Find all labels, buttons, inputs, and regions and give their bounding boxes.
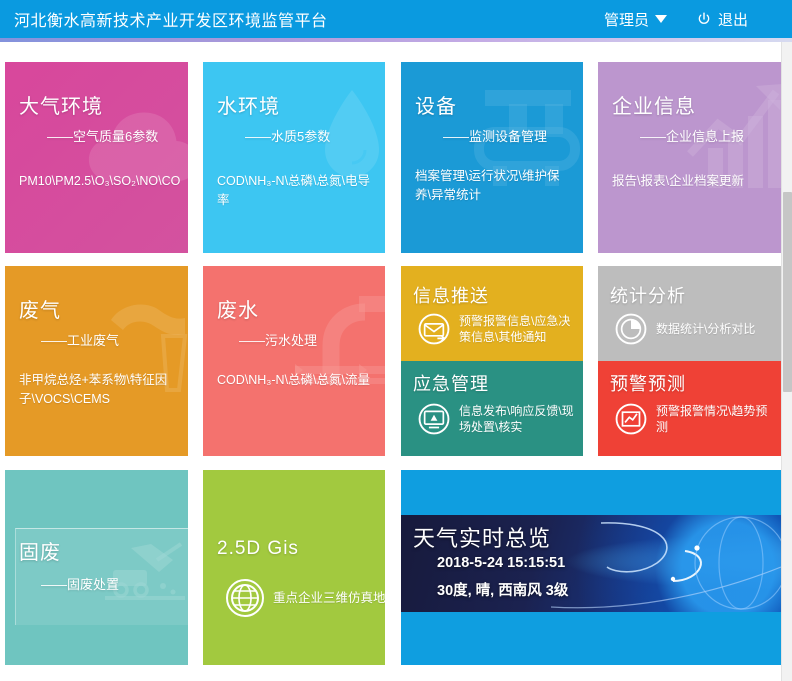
tile-body: PM10\PM2.5\O₃\SO₂\NO\CO (19, 172, 176, 191)
header-actions: 管理员 退出 (604, 9, 748, 30)
emergency-body: 信息发布\响应反馈\现场处置\核实 (459, 403, 581, 435)
tile-gis[interactable]: 2.5D Gis 重点企业三维仿真地图 (203, 470, 385, 665)
gis-row: 重点企业三维仿真地图 (225, 578, 385, 618)
app-header: 河北衡水高新技术产业开发区环境监管平台 管理员 退出 (0, 0, 792, 38)
tile-subtitle: ——企业信息上报 (640, 126, 744, 145)
weather-title: 天气实时总览 (413, 521, 551, 553)
weather-banner: 天气实时总览 2018-5-24 15:15:51 30度, 晴, 西南风 3级 (401, 515, 781, 612)
push-title: 信息推送 (413, 282, 489, 308)
page-scrollbar[interactable] (781, 42, 792, 681)
user-menu[interactable]: 管理员 (604, 9, 667, 30)
tile-title: 设备 (415, 90, 457, 119)
logout-button[interactable]: 退出 (697, 9, 748, 30)
statistics-title: 统计分析 (610, 282, 686, 308)
gis-body: 重点企业三维仿真地图 (273, 590, 385, 606)
tile-enterprise-info[interactable]: 企业信息 ——企业信息上报 报告\报表\企业档案更新 (598, 62, 781, 253)
monitor-alert-icon (417, 402, 451, 436)
tile-device[interactable]: 设备 ——监测设备管理 档案管理\运行状况\维护保养\异常统计 (401, 62, 583, 253)
tile-title: 2.5D Gis (217, 538, 299, 560)
push-body: 预警报警信息\应急决策信息\其他通知 (459, 313, 581, 345)
tile-subtitle: ——监测设备管理 (443, 126, 547, 145)
statistics-body: 数据统计\分析对比 (656, 321, 778, 337)
pie-chart-icon (614, 312, 648, 346)
tile-subtitle: ——固废处置 (41, 574, 119, 593)
tile-info-push-emergency[interactable]: 信息推送 预警报警信息\应急决策信息\其他通知 应急管理 信息发布\响应反馈\现… (401, 266, 583, 456)
chevron-down-icon (655, 15, 667, 23)
tile-body: 非甲烷总烃+苯系物\特征因子\VOCS\CEMS (19, 371, 176, 409)
emergency-row: 信息发布\响应反馈\现场处置\核实 (417, 402, 581, 436)
tile-title: 废气 (19, 294, 61, 323)
tile-body: 档案管理\运行状况\维护保养\异常统计 (415, 167, 571, 205)
user-name-label: 管理员 (604, 9, 649, 30)
tile-body: 报告\报表\企业档案更新 (612, 172, 769, 191)
statistics-row: 数据统计\分析对比 (614, 312, 778, 346)
weather-conditions: 30度, 晴, 西南风 3级 (437, 579, 568, 600)
page-title: 河北衡水高新技术产业开发区环境监管平台 (14, 7, 328, 31)
logout-label: 退出 (718, 9, 748, 30)
tile-body-text: 档案管理\运行状况\维护保养\异常统计 (415, 169, 559, 202)
forecast-row: 预警报警情况\趋势预测 (614, 402, 778, 436)
tile-subtitle: ——污水处理 (239, 330, 317, 349)
scrollbar-thumb[interactable] (783, 192, 792, 392)
tile-air-environment[interactable]: 大气环境 ——空气质量6参数 PM10\PM2.5\O₃\SO₂\NO\CO (5, 62, 188, 253)
envelope-send-icon (417, 312, 451, 346)
dashboard-grid: 大气环境 ——空气质量6参数 PM10\PM2.5\O₃\SO₂\NO\CO 水… (0, 42, 792, 681)
forecast-body: 预警报警情况\趋势预测 (656, 403, 778, 435)
emergency-title: 应急管理 (413, 370, 489, 396)
tile-statistics-forecast[interactable]: 统计分析 数据统计\分析对比 预警预测 预警报警情况\趋势预测 (598, 266, 781, 456)
tile-weather-overview[interactable]: 天气实时总览 2018-5-24 15:15:51 30度, 晴, 西南风 3级 (401, 470, 781, 665)
tile-title: 废水 (217, 294, 259, 323)
tile-body: COD\NH₃-N\总磷\总氮\流量 (217, 371, 373, 390)
trend-chart-icon (614, 402, 648, 436)
tile-waste-water[interactable]: 废水 ——污水处理 COD\NH₃-N\总磷\总氮\流量 (203, 266, 385, 456)
tile-subtitle: ——工业废气 (41, 330, 119, 349)
forecast-title: 预警预测 (610, 370, 686, 396)
tile-body: COD\NH₃-N\总磷\总氮\电导率 (217, 172, 373, 210)
tile-title: 固废 (19, 536, 61, 565)
tile-title: 企业信息 (612, 90, 696, 119)
tile-title: 大气环境 (19, 90, 103, 119)
globe-icon (225, 578, 265, 618)
tile-subtitle: ——水质5参数 (245, 126, 330, 145)
tile-waste-gas[interactable]: 废气 ——工业废气 非甲烷总烃+苯系物\特征因子\VOCS\CEMS (5, 266, 188, 456)
power-icon (697, 12, 711, 26)
tile-title: 水环境 (217, 90, 280, 119)
push-row: 预警报警信息\应急决策信息\其他通知 (417, 312, 581, 346)
weather-datetime: 2018-5-24 15:15:51 (437, 555, 565, 571)
tile-subtitle: ——空气质量6参数 (47, 126, 158, 145)
tile-solid-waste[interactable]: 固废 ——固废处置 (5, 470, 188, 665)
tile-water-environment[interactable]: 水环境 ——水质5参数 COD\NH₃-N\总磷\总氮\电导率 (203, 62, 385, 253)
